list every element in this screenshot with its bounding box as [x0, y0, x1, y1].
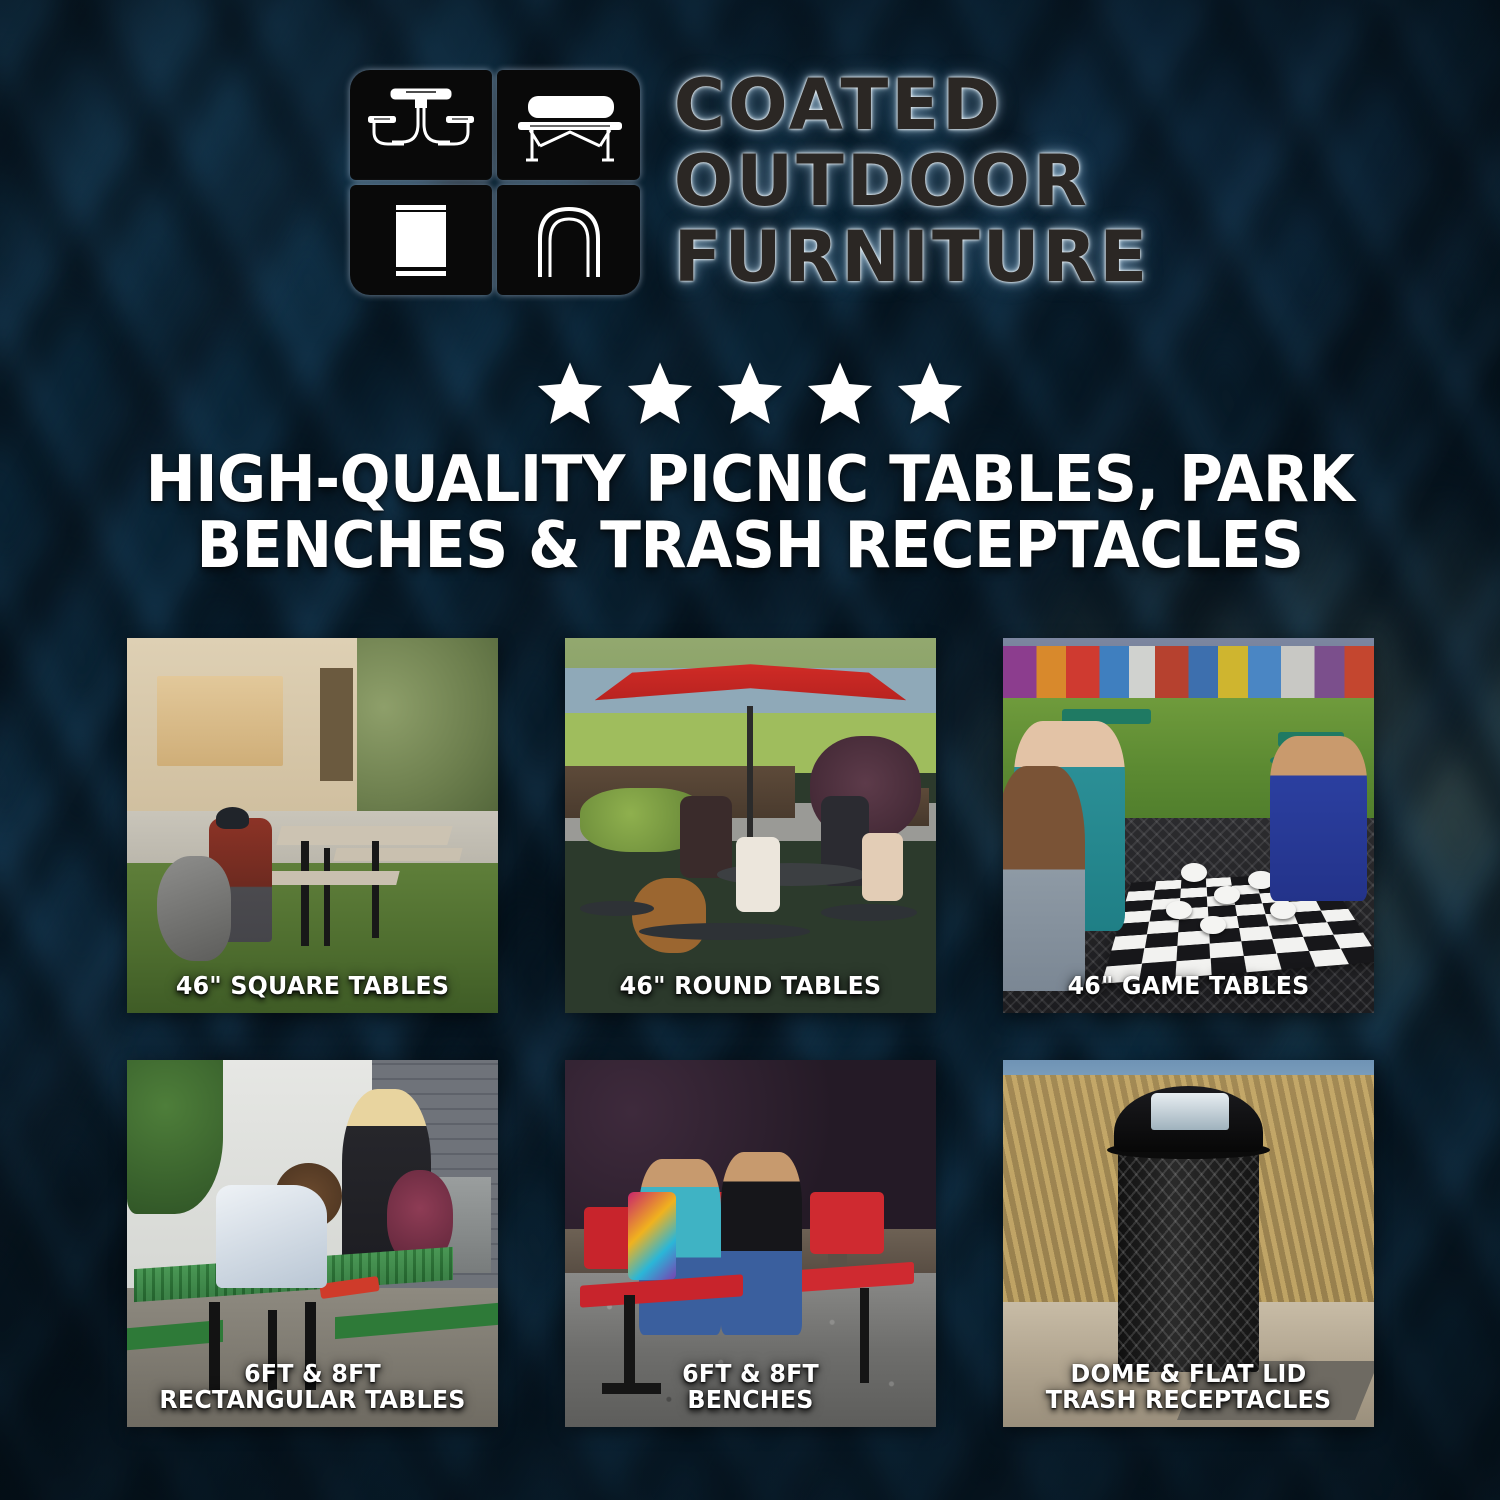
star-icon-2 [624, 358, 696, 428]
logo-icon-grid [350, 70, 640, 295]
brand-word-line-3: FURNITURE [674, 224, 1151, 291]
product-photo-round-tables [565, 638, 936, 1013]
product-card-benches[interactable]: 6FT & 8FT BENCHES [565, 1060, 936, 1427]
brand-wordmark: COATED OUTDOOR FURNITURE [674, 70, 1151, 292]
star-icon-3 [714, 358, 786, 428]
caption-line-1: 6FT & 8FT [682, 1359, 819, 1388]
product-grid: 46" SQUARE TABLES [127, 638, 1373, 1427]
caption-line-2: RECTANGULAR TABLES [136, 1387, 488, 1413]
star-icon-5 [894, 358, 966, 428]
product-caption-game-tables: 46" GAME TABLES [1012, 973, 1364, 999]
bike-rack-icon [497, 185, 640, 295]
caption-line-2: BENCHES [574, 1387, 926, 1413]
product-caption-rectangular-tables: 6FT & 8FT RECTANGULAR TABLES [136, 1361, 488, 1414]
park-bench-icon [497, 70, 640, 180]
picnic-table-icon [350, 70, 493, 180]
product-card-game-tables[interactable]: 46" GAME TABLES [1003, 638, 1374, 1013]
brand-logo: COATED OUTDOOR FURNITURE [0, 70, 1500, 295]
ad-page: COATED OUTDOOR FURNITURE HIGH-QUALITY PI… [0, 0, 1500, 1500]
brand-word-line-2: OUTDOOR [674, 148, 1151, 215]
product-card-round-tables[interactable]: 46" ROUND TABLES [565, 638, 936, 1013]
caption-line-1: 6FT & 8FT [244, 1359, 381, 1388]
product-caption-benches: 6FT & 8FT BENCHES [574, 1361, 926, 1414]
product-photo-square-tables [127, 638, 498, 1013]
caption-line-1: DOME & FLAT LID [1071, 1359, 1307, 1388]
page-headline: HIGH-QUALITY PICNIC TABLES, PARK BENCHES… [49, 448, 1452, 580]
product-caption-square-tables: 46" SQUARE TABLES [136, 973, 488, 999]
product-caption-round-tables: 46" ROUND TABLES [574, 973, 926, 999]
headline-line-1: HIGH-QUALITY PICNIC TABLES, PARK [49, 448, 1452, 514]
product-card-trash-receptacles[interactable]: DOME & FLAT LID TRASH RECEPTACLES [1003, 1060, 1374, 1427]
caption-line-1: 46" GAME TABLES [1068, 971, 1310, 1000]
trash-receptacle-icon [350, 185, 493, 295]
star-rating [0, 358, 1500, 428]
headline-line-2: BENCHES & TRASH RECEPTACLES [49, 514, 1452, 580]
brand-word-line-1: COATED [674, 72, 1151, 139]
product-card-rectangular-tables[interactable]: 6FT & 8FT RECTANGULAR TABLES [127, 1060, 498, 1427]
caption-line-1: 46" ROUND TABLES [620, 971, 882, 1000]
star-icon-4 [804, 358, 876, 428]
product-caption-trash-receptacles: DOME & FLAT LID TRASH RECEPTACLES [1012, 1361, 1364, 1414]
caption-line-2: TRASH RECEPTACLES [1012, 1387, 1364, 1413]
product-card-square-tables[interactable]: 46" SQUARE TABLES [127, 638, 498, 1013]
star-icon-1 [534, 358, 606, 428]
product-photo-game-tables [1003, 638, 1374, 1013]
caption-line-1: 46" SQUARE TABLES [176, 971, 449, 1000]
